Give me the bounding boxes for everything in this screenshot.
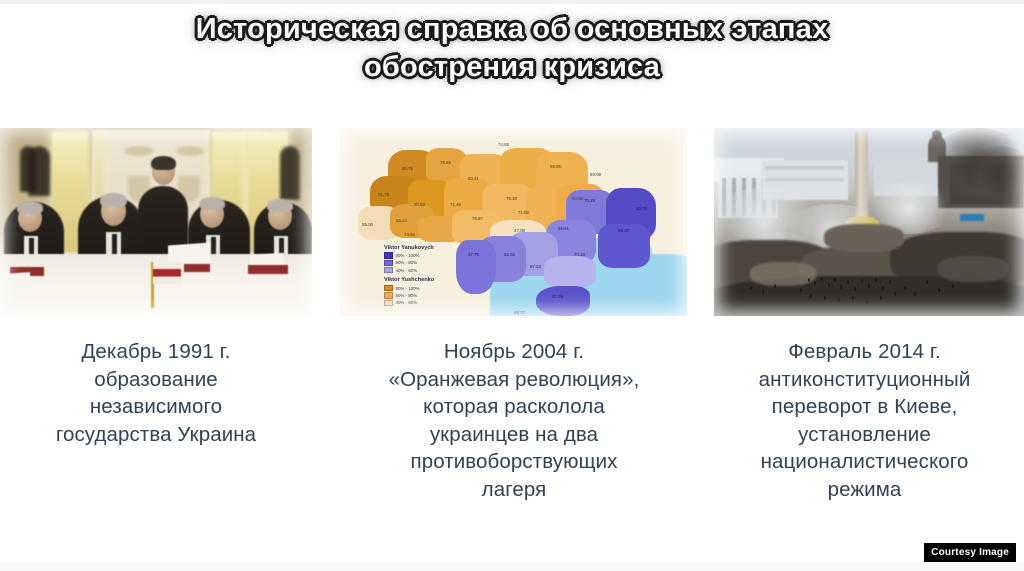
- signing-ceremony-photo: [0, 128, 312, 316]
- panel-image-2004: 74.69 85.79 76.65 65.65 69.09 91.79 80.4…: [340, 128, 687, 316]
- standing-man-hair: [151, 156, 176, 170]
- legend-row: 60% - 80%: [384, 260, 434, 267]
- image-credit-badge: Courtesy Image: [924, 543, 1016, 562]
- panel-caption-1991: Декабрь 1991 г. образование независимого…: [6, 338, 306, 448]
- legend-candidate-name: Viktor Yanukovych: [384, 245, 434, 251]
- legend-candidate-name: Viktor Yushchenko: [384, 277, 434, 283]
- seated-man-hair: [17, 201, 43, 214]
- legend-range-label: 80% - 100%: [396, 253, 420, 258]
- legend-swatch: [384, 252, 393, 259]
- maidan-square-photo: [714, 128, 1024, 316]
- legend-swatch: [384, 267, 393, 274]
- panel-caption-2004: Ноябрь 2004 г. «Оранжевая революция», ко…: [344, 338, 684, 503]
- building-cornice: [766, 178, 844, 181]
- legend-group-yushchenko: Viktor Yushchenko 80% - 100% 60% - 80% 4…: [384, 277, 434, 306]
- panel-caption-2014: Февраль 2014 г. антиконституционный пере…: [712, 338, 1017, 503]
- wall-ornament-icon: [176, 146, 204, 156]
- legend-range-label: 40% - 60%: [396, 268, 417, 273]
- legend-range-label: 40% - 60%: [396, 300, 417, 305]
- belarus-flag-icon: [153, 262, 181, 284]
- seated-man-hair: [199, 197, 225, 210]
- legend-row: 40% - 60%: [384, 267, 434, 274]
- wall-ornament-icon: [124, 146, 154, 156]
- legend-range-label: 60% - 80%: [396, 260, 417, 265]
- document-folder: [248, 265, 288, 274]
- bottom-edge-strip: [0, 563, 1024, 571]
- legend-group-yanukovych: Viktor Yanukovych 80% - 100% 60% - 80% 4…: [384, 245, 434, 274]
- page-title: Историческая справка об основных этапах …: [0, 10, 1024, 86]
- panel-image-2014: [714, 128, 1024, 316]
- background-person: [28, 146, 50, 196]
- map-region-blue: [456, 240, 496, 294]
- legend-range-label: 80% - 100%: [396, 286, 420, 291]
- map-legend: Viktor Yanukovych 80% - 100% 60% - 80% 4…: [384, 245, 434, 310]
- legend-swatch: [384, 300, 393, 307]
- seated-man-hair: [267, 199, 293, 212]
- legend-swatch: [384, 260, 393, 267]
- tower-dome: [932, 130, 942, 140]
- legend-range-label: 60% - 80%: [396, 293, 417, 298]
- legend-row: 60% - 80%: [384, 292, 434, 299]
- legend-row: 80% - 100%: [384, 252, 434, 259]
- map-region-crimea: [536, 286, 590, 316]
- independence-monument-column: [855, 132, 868, 218]
- legend-swatch: [384, 285, 393, 292]
- legend-row: 40% - 60%: [384, 300, 434, 307]
- map-region-blue-light: [544, 256, 596, 288]
- legend-swatch: [384, 292, 393, 299]
- top-edge-strip: [0, 0, 1024, 4]
- document-papers: [4, 272, 30, 285]
- background-person: [280, 146, 300, 200]
- blue-tent: [960, 214, 984, 221]
- building-cornice: [766, 166, 844, 170]
- document-folder: [184, 264, 210, 272]
- legend-row: 80% - 100%: [384, 285, 434, 292]
- panel-image-1991: [0, 128, 312, 316]
- ukraine-election-map: 74.69 85.79 76.65 65.65 69.09 91.79 80.4…: [340, 128, 687, 316]
- slide-root: Историческая справка об основных этапах …: [0, 0, 1024, 571]
- seated-man-hair: [100, 193, 127, 207]
